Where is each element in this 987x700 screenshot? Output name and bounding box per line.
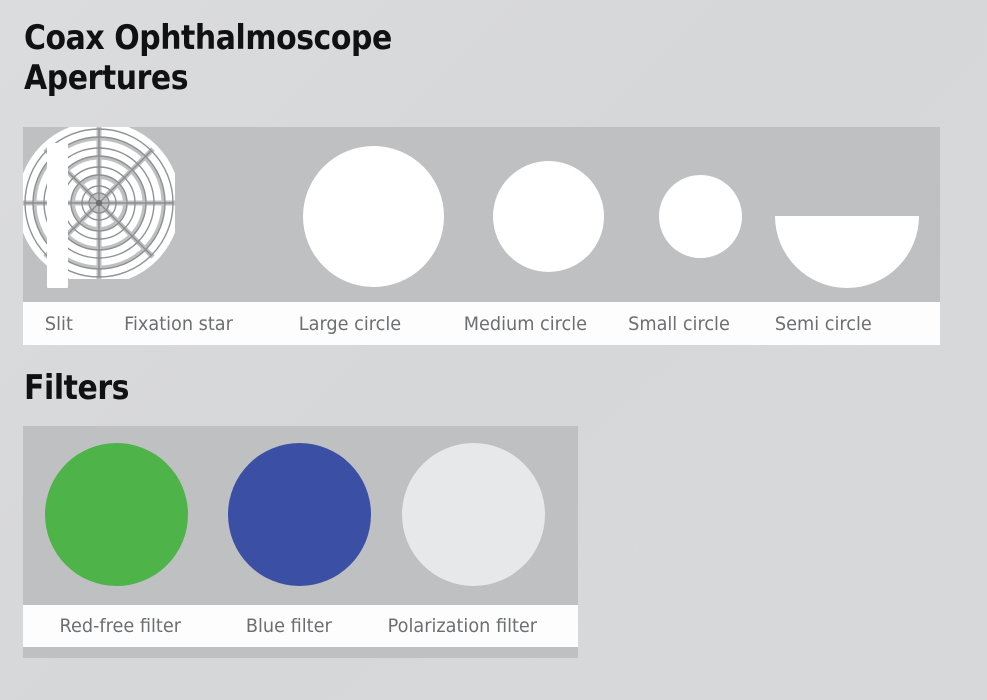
aperture-label-fixation-star: Fixation star [124, 302, 287, 345]
aperture-label-small-circle: Small circle [628, 302, 765, 345]
aperture-fixation-star-shape [23, 127, 175, 279]
filter-polarization-shape [402, 443, 545, 586]
aperture-label-semi-circle: Semi circle [775, 302, 905, 345]
aperture-slit-shape [47, 143, 68, 288]
filters-label-strip: Red-free filter Blue filter Polarization… [23, 605, 578, 647]
apertures-figure-panel [23, 127, 940, 302]
filters-section-heading: Filters [24, 368, 129, 408]
page-root: Coax Ophthalmoscope Apertures [0, 0, 987, 700]
aperture-small-circle-shape [659, 175, 742, 258]
filter-red-free-shape [45, 443, 188, 586]
aperture-large-circle-shape [303, 146, 444, 287]
aperture-label-large-circle: Large circle [299, 302, 452, 345]
aperture-semi-circle-shape [775, 216, 919, 288]
page-title-line-1: Coax Ophthalmoscope [24, 18, 392, 58]
aperture-label-slit: Slit [26, 302, 114, 345]
filter-label-blue: Blue filter [246, 605, 376, 647]
filter-label-polarization: Polarization filter [388, 605, 565, 647]
filter-blue-shape [228, 443, 371, 586]
aperture-label-medium-circle: Medium circle [464, 302, 617, 345]
page-title-line-2: Apertures [24, 58, 570, 98]
aperture-medium-circle-shape [493, 161, 604, 272]
filter-label-red-free: Red-free filter [31, 605, 234, 647]
apertures-label-strip: Slit Fixation star Large circle Medium c… [23, 302, 940, 345]
page-title: Coax Ophthalmoscope Apertures [24, 18, 570, 98]
